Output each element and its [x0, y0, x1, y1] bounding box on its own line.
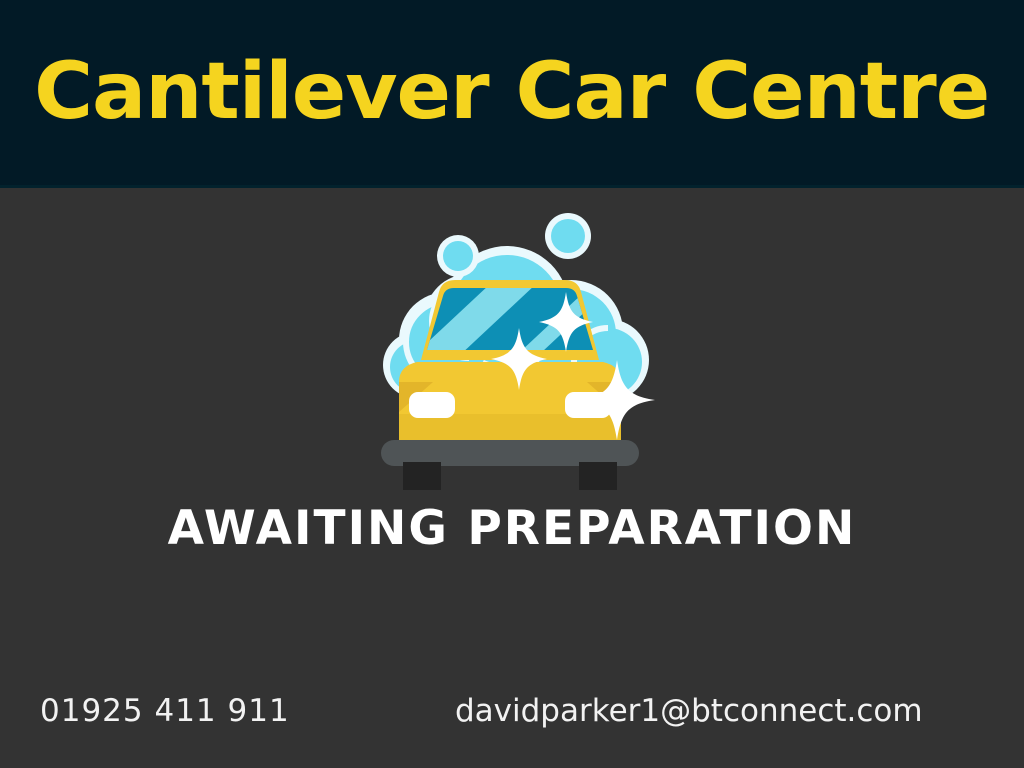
status-badge: AWAITING PREPARATION [168, 501, 857, 556]
contact-row: 01925 411 911 davidparker1@btconnect.com [0, 688, 1024, 738]
wheel-left [403, 462, 441, 490]
car-wash-icon [355, 200, 665, 490]
dealer-header-band: Cantilever Car Centre [0, 0, 1024, 188]
wheel-right [579, 462, 617, 490]
headlight-left [409, 392, 455, 418]
contact-email[interactable]: davidparker1@btconnect.com [455, 688, 923, 734]
vehicle-placeholder-card: Cantilever Car Centre [0, 0, 1024, 768]
dealer-name-title: Cantilever Car Centre [34, 53, 989, 131]
contact-phone[interactable]: 01925 411 911 [40, 688, 290, 734]
status-line: AWAITING PREPARATION [0, 505, 1024, 552]
